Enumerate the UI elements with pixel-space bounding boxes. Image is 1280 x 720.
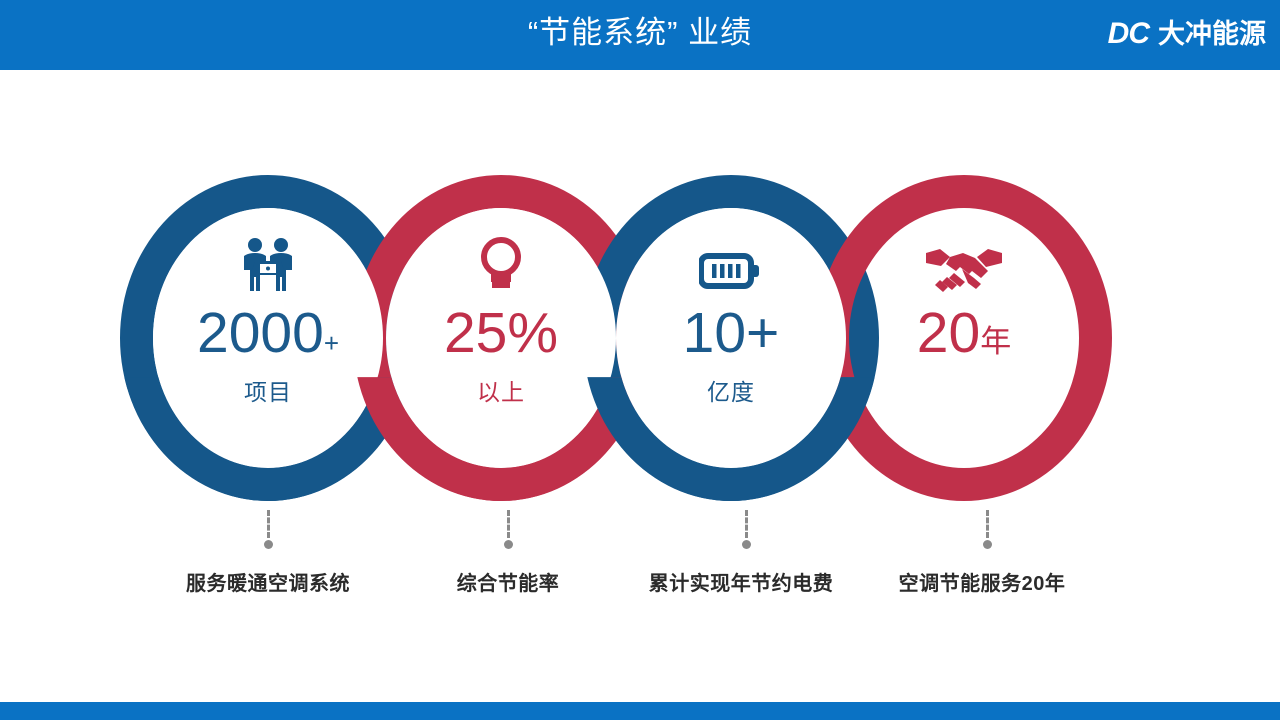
stat-value-3: 10+ <box>683 305 780 362</box>
stat-value-4-suffix: 年 <box>980 324 1011 359</box>
stat-caption-4: 空调节能服务20年 <box>862 567 1102 596</box>
page-title: “节能系统” 业绩 <box>0 0 1280 70</box>
connector-line-2 <box>507 510 510 538</box>
stats-ring-chain: 2000+ 项目 25% 以上 <box>0 70 1280 702</box>
stat-caption-3: 累计实现年节约电费 <box>621 567 861 596</box>
connector-dot-2 <box>504 540 513 549</box>
battery-icon <box>699 231 763 293</box>
connector-dot-3 <box>742 540 751 549</box>
lightbulb-icon <box>475 231 527 293</box>
stat-value-3-main: 10+ <box>683 301 780 365</box>
connector-line-1 <box>267 510 270 538</box>
stat-value-2-main: 25% <box>444 301 558 365</box>
connector-line-4 <box>986 510 989 538</box>
connector-line-3 <box>745 510 748 538</box>
handshake-icon <box>924 231 1004 293</box>
stat-unit-1: 项目 <box>244 373 292 407</box>
stat-card-4: 20年 <box>816 175 1112 501</box>
footer-bar <box>0 702 1280 720</box>
connector-2 <box>503 510 513 549</box>
connector-dot-1 <box>264 540 273 549</box>
stat-caption-1: 服务暖通空调系统 <box>108 567 428 596</box>
logo-company-name: 大冲能源 <box>1158 21 1266 48</box>
connector-dot-4 <box>983 540 992 549</box>
connector-4 <box>982 510 992 549</box>
stat-value-1-suffix: + <box>324 328 339 358</box>
connector-1 <box>263 510 273 549</box>
stat-value-1: 2000+ <box>197 305 339 362</box>
stat-caption-2: 综合节能率 <box>388 567 628 596</box>
connector-3 <box>741 510 751 549</box>
page-header: “节能系统” 业绩 DC 大冲能源 <box>0 0 1280 70</box>
stat-value-1-main: 2000 <box>197 301 324 365</box>
stat-unit-2: 以上 <box>477 373 525 407</box>
company-logo: DC 大冲能源 <box>1108 12 1266 56</box>
stat-value-2: 25% <box>444 305 558 362</box>
stat-value-4-main: 20 <box>917 301 980 365</box>
logo-mark-dc: DC <box>1108 19 1149 49</box>
stat-unit-3: 亿度 <box>707 373 755 407</box>
two-people-icon <box>238 231 298 293</box>
stat-value-4: 20年 <box>917 305 1011 362</box>
